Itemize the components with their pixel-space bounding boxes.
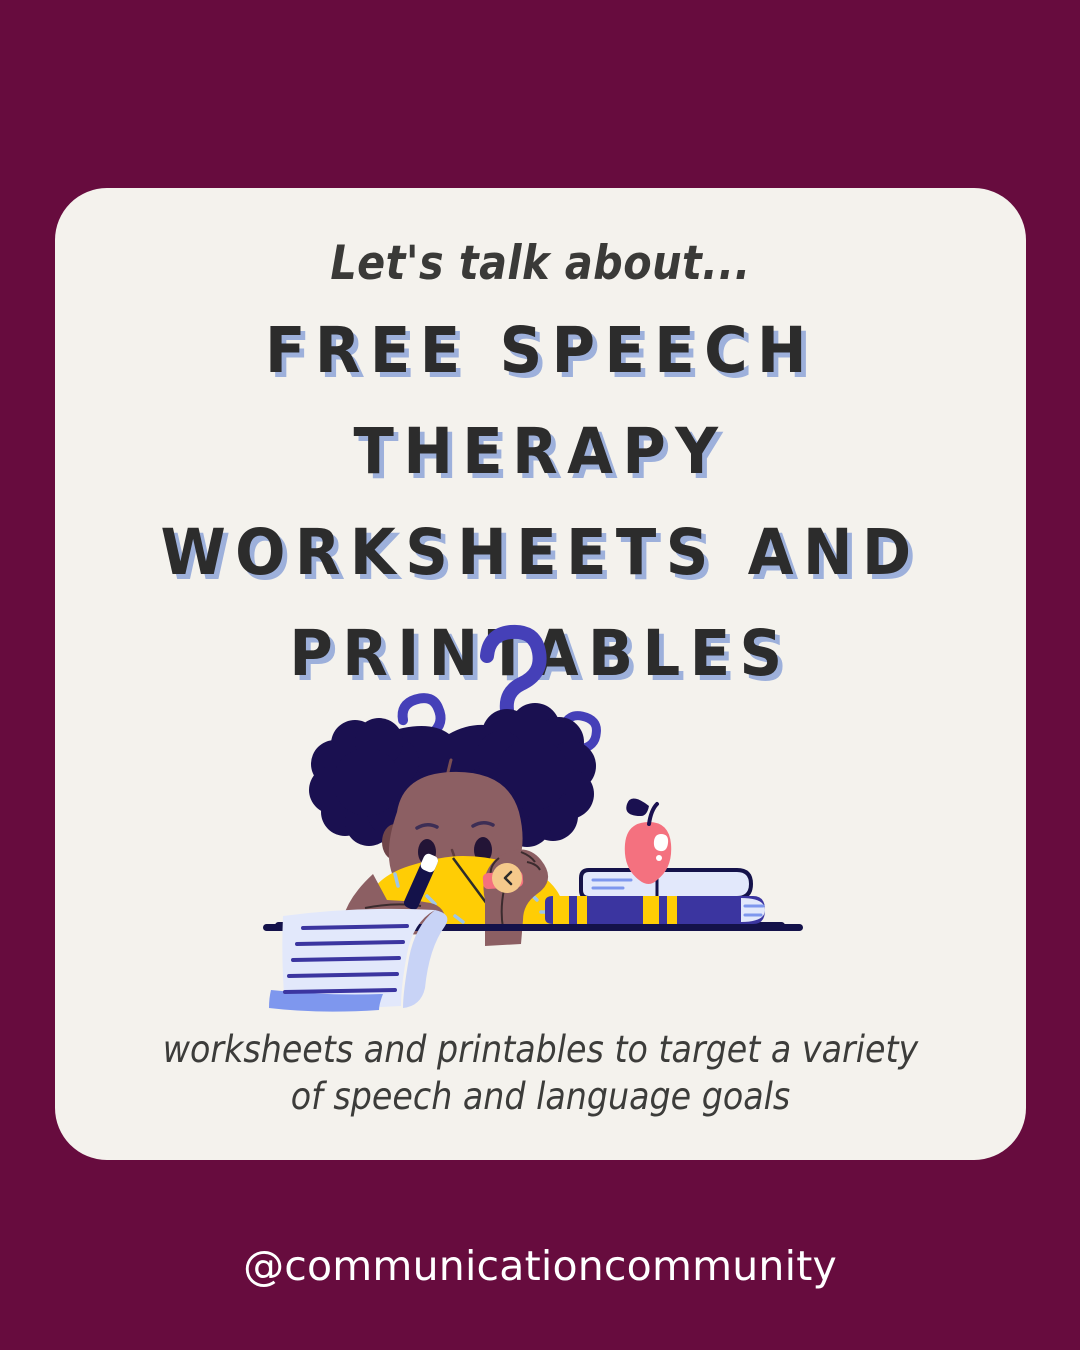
- poster: Let's talk about... FREE SPEECH THERAPY …: [0, 0, 1080, 1350]
- apple-stem: [649, 804, 657, 824]
- card-subtitle: worksheets and printables to target a va…: [158, 1026, 924, 1120]
- girl-thinking-at-desk-illustration: [245, 606, 845, 1026]
- apple: [625, 798, 671, 884]
- content-card: Let's talk about... FREE SPEECH THERAPY …: [55, 188, 1026, 1160]
- eyebrow-text: Let's talk about...: [113, 236, 967, 291]
- question-mark-large: [487, 632, 540, 710]
- book-top: [581, 870, 751, 898]
- apple-highlight: [654, 834, 668, 851]
- headline-line-1: FREE SPEECH THERAPY: [122, 300, 960, 502]
- apple-highlight-dot: [656, 855, 662, 861]
- headline-line-2: WORKSHEETS AND: [122, 502, 960, 603]
- apple-leaf: [626, 798, 649, 816]
- social-handle: @communicationcommunity: [0, 1242, 1080, 1290]
- watch-face: [492, 863, 522, 893]
